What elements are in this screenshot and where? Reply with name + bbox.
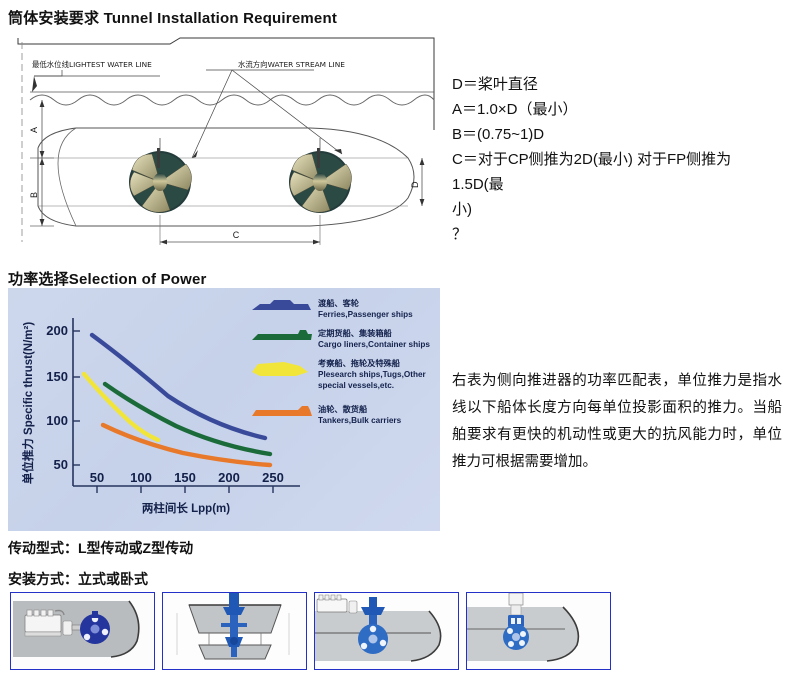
- installation-photo-strip: [10, 592, 611, 670]
- thruster-propeller-1: [129, 138, 192, 213]
- thruster-propeller-2: [289, 138, 352, 213]
- formula-block: D＝桨叶直径 A＝1.0×D（最小） B＝(0.75~1)D C＝对于CP侧推为…: [452, 72, 782, 247]
- y-axis-label: 单位推力 Specific thrust(N/m²): [21, 322, 35, 484]
- x-tick-50: 50: [90, 470, 104, 485]
- label-water-stream-line: 水流方向WATER STREAM LINE: [238, 60, 345, 69]
- formula-line-6: ？: [452, 222, 782, 247]
- legend-label-cargo-en: Cargo liners,Container ships: [318, 340, 430, 349]
- legend-label-ferries-cn: 渡船、客轮: [318, 298, 360, 308]
- dimension-b: B: [29, 158, 44, 226]
- lightest-water-line-leader: [32, 70, 160, 92]
- dim-label-b: B: [29, 192, 39, 198]
- photo-vertical-drive-hull-section[interactable]: [466, 592, 611, 670]
- legend-item-research: 考察船、拖轮及特殊船 Plesearch ships,Tugs,Other sp…: [252, 358, 426, 390]
- dim-label-c: C: [233, 230, 240, 240]
- dimension-c: C: [160, 215, 320, 245]
- photo-l-drive-hull-section[interactable]: [314, 592, 459, 670]
- specific-thrust-chart: 200 150 100 50 50 100 150 200 250 单位推力 S…: [8, 288, 440, 531]
- label-lightest-water-line: 最低水位线LIGHTEST WATER LINE: [32, 60, 152, 69]
- x-tick-250: 250: [262, 470, 284, 485]
- photo-horizontal-engine-thruster[interactable]: [10, 592, 155, 670]
- legend-label-ferries-en: Ferries,Passenger ships: [318, 310, 413, 319]
- hull-installation-diagram: 最低水位线LIGHTEST WATER LINE 水流方向WATER STREA…: [10, 30, 442, 255]
- legend-label-research-en-2: special vessels,etc.: [318, 381, 394, 390]
- legend-item-ferries: 渡船、客轮 Ferries,Passenger ships: [252, 298, 413, 319]
- legend-label-tankers-cn: 油轮、散货船: [318, 404, 368, 414]
- formula-line-1: D＝桨叶直径: [452, 72, 782, 97]
- x-tick-100: 100: [130, 470, 152, 485]
- dim-label-a: A: [29, 127, 39, 133]
- legend-label-cargo-cn: 定期货船、集装箱船: [317, 328, 393, 338]
- x-axis-label: 两柱间长 Lpp(m): [142, 501, 230, 515]
- spec-mount-type: 安装方式：立式或卧式: [8, 569, 193, 589]
- x-tick-200: 200: [218, 470, 240, 485]
- series-line-research: [84, 374, 158, 440]
- page-title: 筒体安装要求 Tunnel Installation Requirement: [8, 7, 337, 28]
- chart-description: 右表为侧向推进器的功率匹配表，单位推力是指水线以下船体长度方向每单位投影面积的推…: [452, 368, 782, 476]
- legend-item-tankers: 油轮、散货船 Tankers,Bulk carriers: [252, 404, 402, 425]
- power-selection-title: 功率选择Selection of Power: [8, 268, 207, 289]
- y-tick-200: 200: [46, 323, 68, 338]
- dimension-a: A: [29, 100, 44, 158]
- formula-line-3: B＝(0.75~1)D: [452, 122, 782, 147]
- y-tick-50: 50: [54, 457, 68, 472]
- spec-drive-type: 传动型式：L型传动或Z型传动: [8, 538, 193, 558]
- formula-line-5: 小): [452, 197, 782, 222]
- y-tick-150: 150: [46, 369, 68, 384]
- series-line-ferries: [92, 335, 265, 438]
- water-stream-line-leader: [192, 70, 342, 158]
- formula-line-4: C＝对于CP侧推为2D(最小) 对于FP侧推为1.5D(最: [452, 147, 782, 197]
- photo-vertical-z-drive-section[interactable]: [162, 592, 307, 670]
- legend-label-tankers-en: Tankers,Bulk carriers: [318, 416, 402, 425]
- y-tick-100: 100: [46, 413, 68, 428]
- legend-item-cargo: 定期货船、集装箱船 Cargo liners,Container ships: [252, 328, 430, 349]
- spec-lines: 传动型式：L型传动或Z型传动 安装方式：立式或卧式: [8, 538, 193, 600]
- x-tick-150: 150: [174, 470, 196, 485]
- formula-line-2: A＝1.0×D（最小）: [452, 97, 782, 122]
- legend-label-research-cn: 考察船、拖轮及特殊船: [318, 358, 401, 368]
- dim-label-d: D: [410, 181, 420, 188]
- chart-legend: 渡船、客轮 Ferries,Passenger ships 定期货船、集装箱船 …: [252, 298, 430, 425]
- legend-label-research-en-1: Plesearch ships,Tugs,Other: [318, 370, 426, 379]
